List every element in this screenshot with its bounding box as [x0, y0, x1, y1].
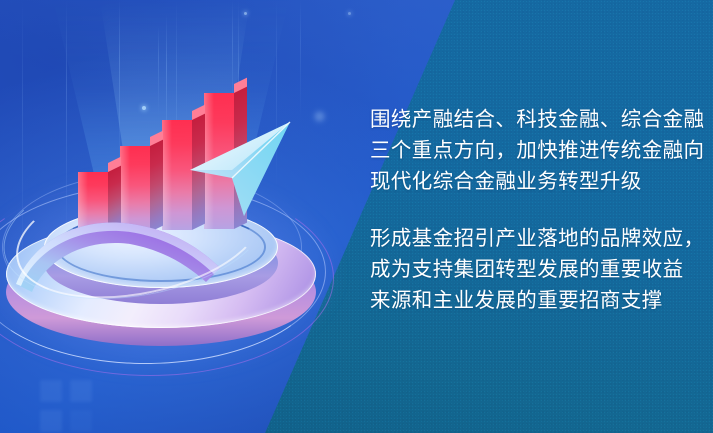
banner-copy: 围绕产融结合、科技金融、综合金融 三个重点方向，加快推进传统金融向 现代化综合金…	[370, 104, 690, 316]
paragraph-2-line-2: 成为支持集团转型发展的重要收益	[370, 258, 684, 281]
paragraph-1-line-2: 三个重点方向，加快推进传统金融向	[370, 139, 704, 162]
paragraph-1-line-1: 围绕产融结合、科技金融、综合金融	[370, 108, 704, 131]
growth-chart-illustration	[0, 88, 330, 378]
paragraph-2: 形成基金招引产业落地的品牌效应， 成为支持集团转型发展的重要收益 来源和主业发展…	[370, 223, 690, 316]
decorative-squares	[40, 380, 100, 433]
paragraph-2-line-3: 来源和主业发展的重要招商支撑	[370, 289, 663, 312]
sparkle-dot	[348, 12, 351, 15]
paragraph-1-line-3: 现代化综合金融业务转型升级	[370, 170, 642, 193]
paragraph-1: 围绕产融结合、科技金融、综合金融 三个重点方向，加快推进传统金融向 现代化综合金…	[370, 104, 690, 197]
banner-image: 围绕产融结合、科技金融、综合金融 三个重点方向，加快推进传统金融向 现代化综合金…	[0, 0, 713, 433]
paragraph-2-line-1: 形成基金招引产业落地的品牌效应，	[370, 227, 704, 250]
